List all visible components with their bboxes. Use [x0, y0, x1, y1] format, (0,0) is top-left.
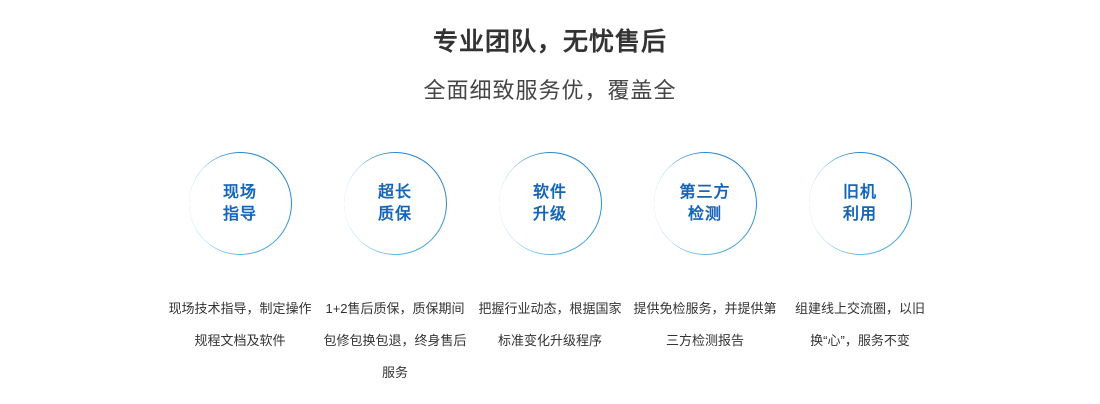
page-title: 专业团队，无忧售后	[0, 0, 1100, 57]
feature-circle-software-upgrade: 软件 升级	[499, 152, 602, 255]
feature-description: 提供免检服务，并提供第三方检测报告	[629, 293, 781, 357]
feature-circle-label: 超长 质保	[378, 182, 412, 226]
feature-circle-inner: 第三方 检测	[654, 153, 756, 255]
feature-circle-label: 旧机 利用	[843, 182, 877, 226]
feature-item-extended-warranty: 超长 质保 1+2售后质保，质保期间包修包换包退，终身售后服务	[318, 152, 473, 389]
feature-circle-inner: 超长 质保	[344, 153, 446, 255]
feature-circle-inner: 旧机 利用	[809, 153, 911, 255]
feature-list: 现场 指导 现场技术指导，制定操作规程文档及软件 超长 质保 1+2售后质保，质…	[0, 152, 1100, 389]
feature-circle-extended-warranty: 超长 质保	[344, 152, 447, 255]
feature-description: 组建线上交流圈，以旧换“心”，服务不变	[784, 293, 936, 357]
feature-circle-label: 软件 升级	[533, 182, 567, 226]
feature-circle-third-party-inspection: 第三方 检测	[654, 152, 757, 255]
feature-circle-label: 第三方 检测	[679, 182, 730, 226]
feature-circle-inner: 现场 指导	[189, 153, 291, 255]
feature-circle-onsite-guidance: 现场 指导	[189, 152, 292, 255]
feature-item-software-upgrade: 软件 升级 把握行业动态，根据国家标准变化升级程序	[473, 152, 628, 357]
feature-circle-inner: 软件 升级	[499, 153, 601, 255]
service-promo-banner: 专业团队，无忧售后 全面细致服务优，覆盖全 现场 指导 现场技术指导，制定操作规…	[0, 0, 1100, 404]
feature-item-onsite-guidance: 现场 指导 现场技术指导，制定操作规程文档及软件	[163, 152, 318, 357]
feature-description: 1+2售后质保，质保期间包修包换包退，终身售后服务	[319, 293, 471, 389]
feature-circle-old-machine-reuse: 旧机 利用	[809, 152, 912, 255]
feature-circle-label: 现场 指导	[223, 182, 257, 226]
heading-block: 专业团队，无忧售后 全面细致服务优，覆盖全	[0, 0, 1100, 104]
feature-item-third-party-inspection: 第三方 检测 提供免检服务，并提供第三方检测报告	[628, 152, 783, 357]
feature-item-old-machine-reuse: 旧机 利用 组建线上交流圈，以旧换“心”，服务不变	[783, 152, 938, 357]
feature-description: 把握行业动态，根据国家标准变化升级程序	[474, 293, 626, 357]
page-subtitle: 全面细致服务优，覆盖全	[0, 57, 1100, 104]
feature-description: 现场技术指导，制定操作规程文档及软件	[164, 293, 316, 357]
